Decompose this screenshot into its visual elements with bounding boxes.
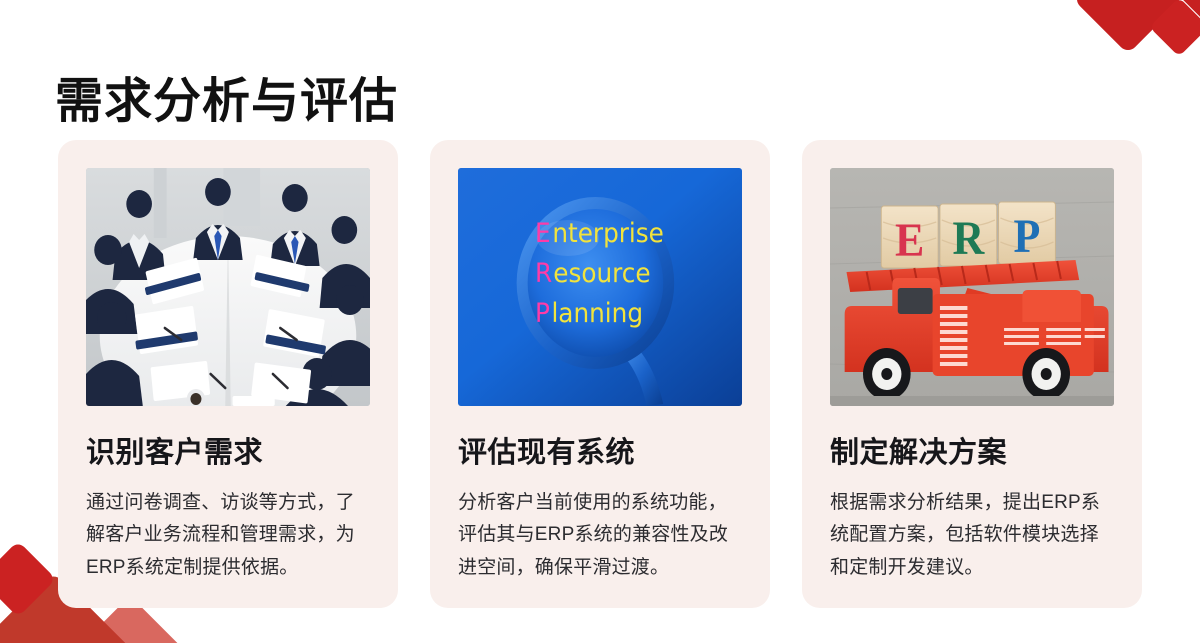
card-list: 识别客户需求 通过问卷调查、访谈等方式，了解客户业务流程和管理需求，为ERP系统… [58,140,1142,608]
svg-text:R: R [535,258,552,289]
card-heading: 识别客户需求 [86,436,370,471]
card-heading: 评估现有系统 [458,436,742,471]
svg-text:P: P [535,298,550,329]
page-title: 需求分析与评估 [55,73,398,131]
erp-magnifier-photo: E nterprise R esource P lanning [458,168,742,406]
erp-blocks-firetruck-photo: E R P [830,168,1114,406]
card-body: 根据需求分析结果，提出ERP系统配置方案，包括软件模块选择和定制开发建议。 [830,487,1114,585]
svg-text:lanning: lanning [551,298,643,329]
slide-canvas: 需求分析与评估 [0,0,1200,643]
svg-text:P: P [1014,209,1041,262]
svg-text:E: E [535,218,551,249]
card-identify-requirements[interactable]: 识别客户需求 通过问卷调查、访谈等方式，了解客户业务流程和管理需求，为ERP系统… [58,140,398,608]
card-build-solution[interactable]: E R P [802,140,1142,608]
svg-text:esource: esource [553,258,650,289]
card-body: 分析客户当前使用的系统功能，评估其与ERP系统的兼容性及改进空间，确保平滑过渡。 [458,487,742,585]
card-heading: 制定解决方案 [830,436,1114,471]
svg-text:E: E [895,213,924,266]
business-meeting-photo [86,168,370,406]
svg-text:nterprise: nterprise [552,218,664,249]
svg-text:R: R [952,211,984,264]
card-body: 通过问卷调查、访谈等方式，了解客户业务流程和管理需求，为ERP系统定制提供依据。 [86,487,370,585]
card-evaluate-system[interactable]: E nterprise R esource P lanning 评估现有系统 分… [430,140,770,608]
